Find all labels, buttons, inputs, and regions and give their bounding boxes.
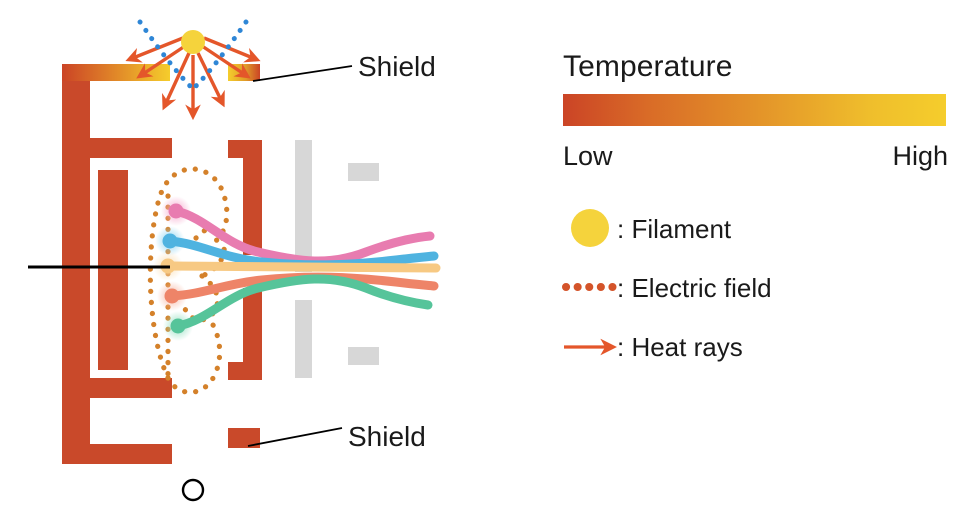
insulator-bar-upper <box>295 140 312 272</box>
shield-label-top: Shield <box>358 50 436 84</box>
insulator-bar-lower <box>295 300 312 378</box>
filament-source <box>181 30 205 54</box>
legend-item-heat-rays-label: : Heat rays <box>617 331 743 363</box>
legend-title: Temperature <box>563 48 733 86</box>
shield-label-bottom: Shield <box>348 420 426 454</box>
cathode-inner-bar <box>98 170 128 370</box>
origin-marker-circle <box>183 480 203 500</box>
insulator-tab-lower <box>348 347 379 365</box>
equipotential-outer-loop <box>150 169 226 392</box>
insulator-tab-upper <box>348 163 379 181</box>
leader-line-shield-top <box>253 66 352 81</box>
beam-tan <box>168 266 436 268</box>
colorbar-high-label: High <box>892 139 948 173</box>
legend-item-filament-label: : Filament <box>617 213 731 245</box>
leader-line-shield-bottom <box>248 428 342 446</box>
legend-item-electric-field-label: : Electric field <box>617 272 772 304</box>
legend-colorbar <box>563 94 946 126</box>
colorbar-low-label: Low <box>563 139 613 173</box>
schematic-layer <box>0 0 966 518</box>
diagram-canvas: Temperature Low High : Filament : Electr… <box>0 0 966 518</box>
electron-trajectories <box>153 196 436 341</box>
legend-symbol-filament <box>571 209 609 247</box>
